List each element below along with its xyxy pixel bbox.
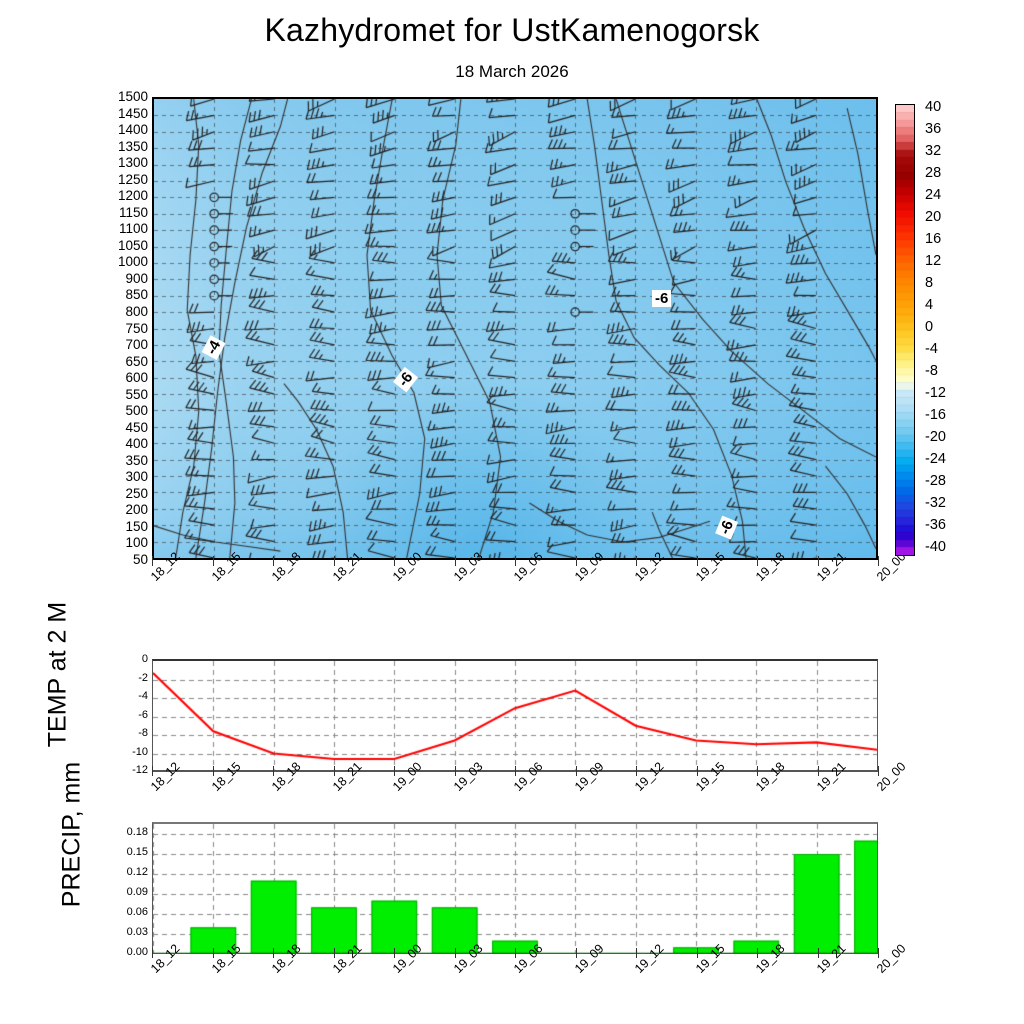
- x-axis-tick: [394, 766, 395, 776]
- x-axis-tick: [515, 556, 516, 566]
- x-axis-tick: [273, 766, 274, 776]
- x-axis-tick: [213, 766, 214, 776]
- temp-line-plot: [153, 661, 877, 772]
- colorbar-tick-label: -4: [925, 342, 938, 357]
- colorbar-tick-label: 40: [925, 100, 941, 115]
- cross-section-y-tick-label: 250: [86, 487, 148, 501]
- x-axis-tick: [394, 556, 395, 566]
- precip-y-tick-label: 0.12: [127, 867, 148, 878]
- x-axis-tick: [757, 766, 758, 776]
- precip-axis-title: PRECIP, mm: [58, 725, 87, 945]
- temp-x-axis: 18_1218_1518_1818_2119_0019_0319_0619_09…: [152, 776, 878, 826]
- precip-x-axis: 18_1218_1518_1818_2119_0019_0319_0619_09…: [152, 958, 878, 1008]
- cross-section-y-tick-label: 1200: [86, 189, 148, 203]
- x-axis-tick: [455, 948, 456, 958]
- x-axis-tick: [636, 556, 637, 566]
- x-axis-tick: [878, 556, 879, 566]
- precip-y-tick-label: 0.06: [127, 907, 148, 918]
- cross-section-y-tick-label: 550: [86, 388, 148, 402]
- cross-section-y-tick-label: 1100: [86, 222, 148, 236]
- colorbar-tick-label: -8: [925, 364, 938, 379]
- colorbar-gradient: [896, 105, 914, 555]
- colorbar-tick-label: 12: [925, 254, 941, 269]
- x-axis-tick: [697, 766, 698, 776]
- cross-section-y-tick-label: 1250: [86, 173, 148, 187]
- x-axis-tick: [334, 556, 335, 566]
- x-axis-tick: [515, 766, 516, 776]
- colorbar-tick-label: 28: [925, 166, 941, 181]
- x-axis-tick: [697, 948, 698, 958]
- cross-section-y-tick-label: 1000: [86, 255, 148, 269]
- precip-y-axis: 0.000.030.060.090.120.150.18: [98, 815, 148, 960]
- x-axis-tick: [213, 556, 214, 566]
- temp-y-tick-label: 0: [142, 654, 148, 665]
- x-axis-tick: [818, 948, 819, 958]
- precip-y-tick-label: 0.15: [127, 847, 148, 858]
- precip-y-tick-label: 0.03: [127, 927, 148, 938]
- cross-section-y-tick-label: 1300: [86, 156, 148, 170]
- colorbar-tick-label: 36: [925, 122, 941, 137]
- x-axis-tick: [878, 948, 879, 958]
- x-axis-tick: [334, 766, 335, 776]
- cross-section-y-tick-label: 1150: [86, 206, 148, 220]
- colorbar-tick-label: -20: [925, 430, 946, 445]
- x-axis-tick: [818, 556, 819, 566]
- x-axis-tick: [273, 556, 274, 566]
- temp-y-tick-label: -6: [138, 710, 148, 721]
- cross-section-y-tick-label: 750: [86, 322, 148, 336]
- cross-section-y-tick-label: 650: [86, 355, 148, 369]
- cross-section-x-axis: 18_1218_1518_1818_2119_0019_0319_0619_09…: [152, 566, 878, 626]
- cross-section-y-tick-label: 400: [86, 437, 148, 451]
- x-axis-tick: [273, 948, 274, 958]
- contour-label: -6: [652, 290, 671, 307]
- colorbar-tick-label: -40: [925, 540, 946, 555]
- x-axis-tick: [455, 556, 456, 566]
- colorbar-tick-label: 20: [925, 210, 941, 225]
- x-axis-tick: [576, 766, 577, 776]
- precip-panel: [152, 822, 878, 954]
- cross-section-y-tick-label: 1050: [86, 239, 148, 253]
- x-axis-tick: [515, 948, 516, 958]
- precip-bar-plot: [153, 824, 877, 954]
- x-axis-tick: [576, 948, 577, 958]
- cross-section-y-tick-label: 500: [86, 404, 148, 418]
- x-axis-tick: [455, 766, 456, 776]
- cross-section-y-axis: 1500145014001350130012501200115011001050…: [84, 90, 148, 570]
- cross-section-plot: [154, 99, 876, 558]
- precip-y-tick-label: 0.18: [127, 827, 148, 838]
- colorbar-tick-label: -32: [925, 496, 946, 511]
- x-axis-tick: [152, 948, 153, 958]
- cross-section-y-tick-label: 900: [86, 272, 148, 286]
- cross-section-y-tick-label: 1350: [86, 140, 148, 154]
- colorbar-tick-label: -36: [925, 518, 946, 533]
- colorbar-tick-label: -16: [925, 408, 946, 423]
- page-subtitle: 18 March 2026: [0, 62, 1024, 82]
- cross-section-y-tick-label: 700: [86, 338, 148, 352]
- colorbar-tick-labels: 4036322824201612840-4-8-12-16-20-24-28-3…: [925, 96, 985, 566]
- x-axis-tick: [818, 766, 819, 776]
- cross-section-y-tick-label: 50: [86, 553, 148, 567]
- cross-section-y-tick-label: 200: [86, 503, 148, 517]
- cross-section-y-tick-label: 1500: [86, 90, 148, 104]
- cross-section-y-tick-label: 450: [86, 421, 148, 435]
- cross-section-y-tick-label: 1400: [86, 123, 148, 137]
- colorbar-tick-label: 4: [925, 298, 933, 313]
- x-axis-tick: [213, 948, 214, 958]
- cross-section-y-tick-label: 850: [86, 288, 148, 302]
- x-axis-tick: [757, 556, 758, 566]
- colorbar-tick-label: 16: [925, 232, 941, 247]
- x-axis-tick: [697, 556, 698, 566]
- temp-y-tick-label: -10: [132, 747, 148, 758]
- temp-panel: [152, 659, 878, 772]
- temp-y-axis: 0-2-4-6-8-10-12: [108, 652, 148, 778]
- forecast-sounding-figure: Kazhydromet for UstKamenogorsk 18 March …: [0, 0, 1024, 1024]
- colorbar-tick-label: 8: [925, 276, 933, 291]
- temperature-colorbar: [895, 104, 915, 556]
- x-axis-tick: [152, 766, 153, 776]
- cross-section-y-tick-label: 350: [86, 454, 148, 468]
- page-title: Kazhydromet for UstKamenogorsk: [0, 12, 1024, 49]
- temp-y-tick-label: -2: [138, 673, 148, 684]
- x-axis-tick: [757, 948, 758, 958]
- precip-y-tick-label: 0.00: [127, 947, 148, 958]
- x-axis-tick: [576, 556, 577, 566]
- colorbar-tick-label: -24: [925, 452, 946, 467]
- x-axis-tick: [636, 766, 637, 776]
- cross-section-y-tick-label: 300: [86, 470, 148, 484]
- temp-y-tick-label: -4: [138, 691, 148, 702]
- colorbar-tick-label: 0: [925, 320, 933, 335]
- x-axis-tick: [636, 948, 637, 958]
- x-axis-tick: [334, 948, 335, 958]
- colorbar-tick-label: 32: [925, 144, 941, 159]
- cross-section-y-tick-label: 600: [86, 371, 148, 385]
- colorbar-tick-label: -12: [925, 386, 946, 401]
- cross-section-y-tick-label: 800: [86, 305, 148, 319]
- cross-section-y-tick-label: 150: [86, 520, 148, 534]
- x-axis-tick: [394, 948, 395, 958]
- x-axis-tick-label: 20_00: [874, 759, 908, 793]
- cross-section-y-tick-label: 100: [86, 536, 148, 550]
- x-axis-tick: [152, 556, 153, 566]
- colorbar-tick-label: 24: [925, 188, 941, 203]
- temp-y-tick-label: -12: [132, 765, 148, 776]
- temp-y-tick-label: -8: [138, 728, 148, 739]
- x-axis-tick: [878, 766, 879, 776]
- cross-section-panel: -4-6-6-6: [152, 97, 878, 560]
- x-axis-tick-label: 20_00: [874, 941, 908, 975]
- precip-y-tick-label: 0.09: [127, 887, 148, 898]
- colorbar-tick-label: -28: [925, 474, 946, 489]
- cross-section-y-tick-label: 1450: [86, 107, 148, 121]
